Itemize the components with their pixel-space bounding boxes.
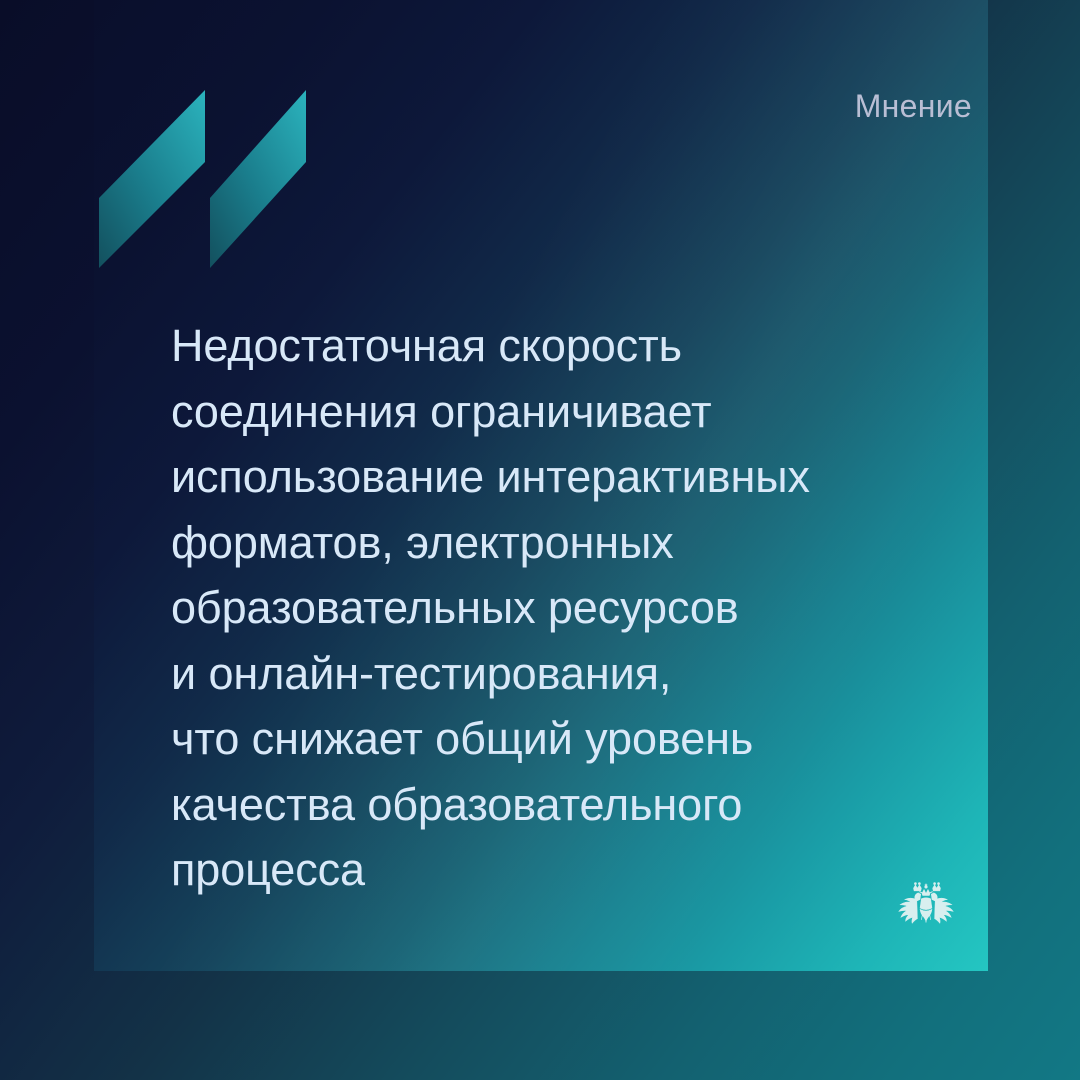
- double-headed-eagle-emblem-icon: [893, 877, 959, 943]
- quote-line: соединения ограничивает: [171, 379, 971, 445]
- quote-line: и онлайн-тестирования,: [171, 641, 971, 707]
- eyebrow-label: Мнение: [855, 86, 972, 126]
- quote-card: Мнение Недостаточная скорость соединения…: [0, 0, 1080, 1080]
- quote-line: форматов, электронных: [171, 510, 971, 576]
- quote-line: использование интерактивных: [171, 444, 971, 510]
- quote-line: процесса: [171, 837, 971, 903]
- quote-text-block: Недостаточная скорость соединения ограни…: [171, 313, 971, 903]
- quote-line: что снижает общий уровень: [171, 706, 971, 772]
- quote-line: Недостаточная скорость: [171, 313, 971, 379]
- quote-line: качества образовательного: [171, 772, 971, 838]
- quote-line: образовательных ресурсов: [171, 575, 971, 641]
- quote-mark-icon: [94, 88, 314, 272]
